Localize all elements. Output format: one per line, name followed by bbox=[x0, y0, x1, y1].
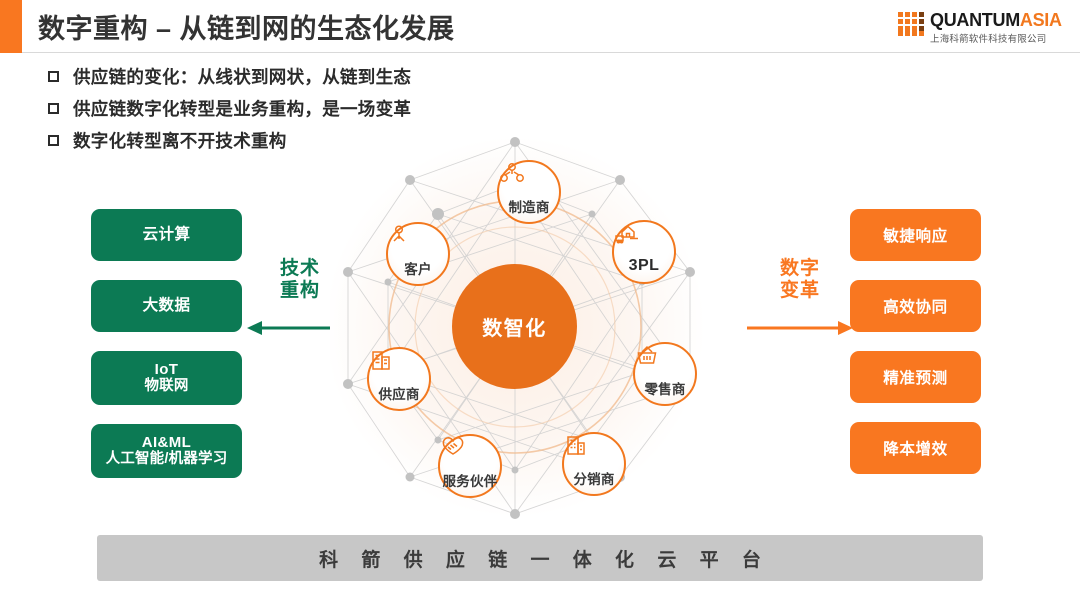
list-item: 供应链的变化：从线状到网状，从链到生态 bbox=[48, 60, 411, 92]
arrow-label-line1: 数字 bbox=[745, 258, 855, 280]
arrow-label: 数字 变革 bbox=[745, 258, 855, 303]
network-node-service-partner[interactable]: 服务伙伴 bbox=[438, 434, 502, 498]
value-box-label: 降本增效 bbox=[883, 437, 947, 459]
network-node-label: 3PL bbox=[629, 257, 660, 275]
tech-box-sublabel: 物联网 bbox=[144, 378, 188, 395]
network-node-label: 分销商 bbox=[573, 468, 614, 488]
network-node-label: 服务伙伴 bbox=[443, 470, 498, 490]
network-node-supplier[interactable]: 供应商 bbox=[367, 347, 431, 411]
tech-box-iot[interactable]: IoT 物联网 bbox=[91, 351, 242, 405]
square-bullet-icon bbox=[48, 135, 59, 146]
slide-header: 数字重构 – 从链到网的生态化发展 QUANTUMASIA 上海科箭软件科技有限… bbox=[0, 0, 1080, 53]
arrow-label-line2: 变革 bbox=[745, 280, 855, 302]
bullet-text: 数字化转型离不开技术重构 bbox=[73, 128, 287, 153]
value-outcomes-column: 敏捷响应 高效协同 精准预测 降本增效 bbox=[850, 209, 981, 493]
tech-box-label: IoT bbox=[155, 361, 179, 378]
square-bullet-icon bbox=[48, 103, 59, 114]
bullet-text: 供应链数字化转型是业务重构，是一场变革 bbox=[73, 96, 411, 121]
logo-dot-grid-icon bbox=[898, 12, 924, 31]
tech-box-label: 大数据 bbox=[143, 297, 191, 315]
digital-transformation-arrow: 数字 变革 bbox=[745, 258, 855, 339]
network-node-label: 供应商 bbox=[378, 383, 419, 403]
tech-box-label: 云计算 bbox=[143, 226, 191, 244]
logo-dot-row-icon bbox=[898, 31, 924, 36]
value-box-cost-reduction[interactable]: 降本增效 bbox=[850, 422, 981, 474]
logo-name-main: QUANTUM bbox=[930, 10, 1020, 30]
header-accent-bar bbox=[0, 0, 22, 53]
network-node-label: 制造商 bbox=[508, 196, 549, 216]
network-core-node[interactable]: 数智化 bbox=[452, 264, 577, 389]
network-node-customer[interactable]: 客户 bbox=[386, 222, 450, 286]
tech-box-aiml[interactable]: AI&ML 人工智能/机器学习 bbox=[91, 424, 242, 478]
square-bullet-icon bbox=[48, 71, 59, 82]
platform-footer-bar: 科 箭 供 应 链 一 体 化 云 平 台 bbox=[97, 535, 983, 581]
value-box-agile-response[interactable]: 敏捷响应 bbox=[850, 209, 981, 261]
network-node-retailer[interactable]: 零售商 bbox=[633, 342, 697, 406]
tech-box-label: AI&ML bbox=[142, 434, 192, 451]
value-box-label: 高效协同 bbox=[883, 295, 947, 317]
arrow-right-icon bbox=[745, 317, 855, 339]
network-node-label: 客户 bbox=[404, 258, 431, 278]
platform-label: 科 箭 供 应 链 一 体 化 云 平 台 bbox=[310, 545, 770, 572]
tech-box-sublabel: 人工智能/机器学习 bbox=[106, 451, 228, 468]
tech-box-cloud[interactable]: 云计算 bbox=[91, 209, 242, 261]
network-node-distributor[interactable]: 分销商 bbox=[562, 432, 626, 496]
tech-stack-column: 云计算 大数据 IoT 物联网 AI&ML 人工智能/机器学习 bbox=[91, 209, 242, 497]
network-node-3pl[interactable]: 3PL bbox=[612, 220, 676, 284]
ecosystem-network-diagram: 数智化 制造商 3PL bbox=[330, 132, 740, 522]
header-divider bbox=[22, 52, 1080, 53]
slide-root: 数字重构 – 从链到网的生态化发展 QUANTUMASIA 上海科箭软件科技有限… bbox=[0, 0, 1080, 608]
list-item: 供应链数字化转型是业务重构，是一场变革 bbox=[48, 92, 411, 124]
tech-box-bigdata[interactable]: 大数据 bbox=[91, 280, 242, 332]
company-logo: QUANTUMASIA 上海科箭软件科技有限公司 bbox=[898, 10, 1066, 48]
logo-subtitle: 上海科箭软件科技有限公司 bbox=[930, 31, 1046, 45]
value-box-label: 敏捷响应 bbox=[883, 224, 947, 246]
value-box-efficient-collaboration[interactable]: 高效协同 bbox=[850, 280, 981, 332]
logo-name-accent: ASIA bbox=[1020, 10, 1062, 30]
value-box-label: 精准预测 bbox=[883, 366, 947, 388]
page-title: 数字重构 – 从链到网的生态化发展 bbox=[38, 7, 455, 46]
value-box-accurate-forecast[interactable]: 精准预测 bbox=[850, 351, 981, 403]
bullet-text: 供应链的变化：从线状到网状，从链到生态 bbox=[73, 64, 411, 89]
network-node-manufacturer[interactable]: 制造商 bbox=[497, 160, 561, 224]
logo-wordmark: QUANTUMASIA bbox=[930, 10, 1062, 31]
network-node-label: 零售商 bbox=[644, 378, 685, 398]
network-core-label: 数智化 bbox=[482, 312, 547, 341]
